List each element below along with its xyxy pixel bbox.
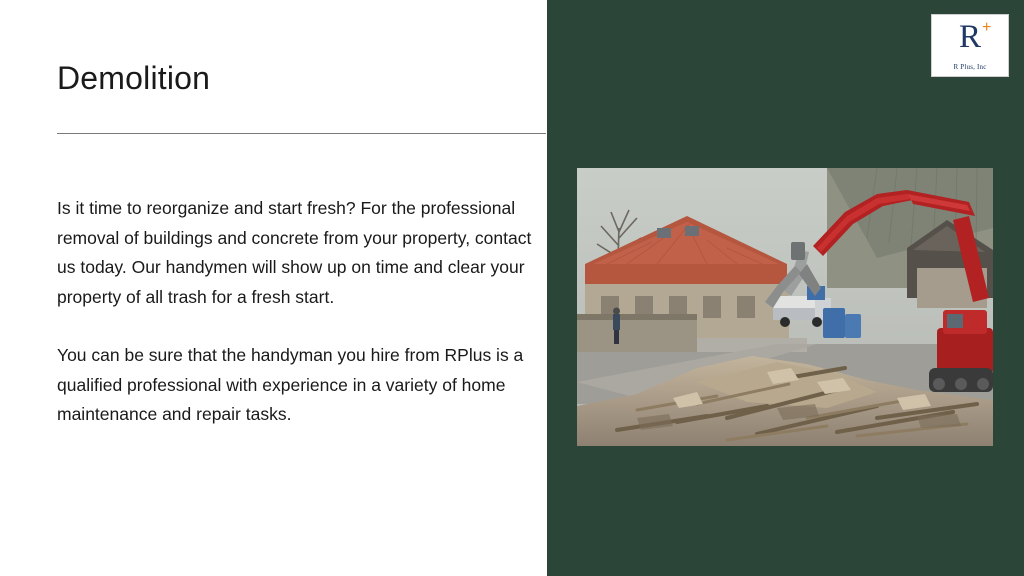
paragraph-1: Is it time to reorganize and start fresh… [57,194,537,312]
title-divider [57,133,546,134]
demolition-photo [577,168,993,446]
demolition-photo-graphic [577,168,993,446]
page-title: Demolition [57,56,210,100]
logo-monogram: R [932,17,1008,57]
company-logo: R + R Plus, Inc [931,14,1009,77]
logo-company-name: R Plus, Inc [932,63,1008,71]
pedestrian [613,308,620,345]
body-copy: Is it time to reorganize and start fresh… [57,194,537,459]
logo-plus-icon: + [982,20,991,36]
paragraph-2: You can be sure that the handyman you hi… [57,341,537,430]
slide: R + R Plus, Inc Demolition Is it time to… [0,0,1024,576]
